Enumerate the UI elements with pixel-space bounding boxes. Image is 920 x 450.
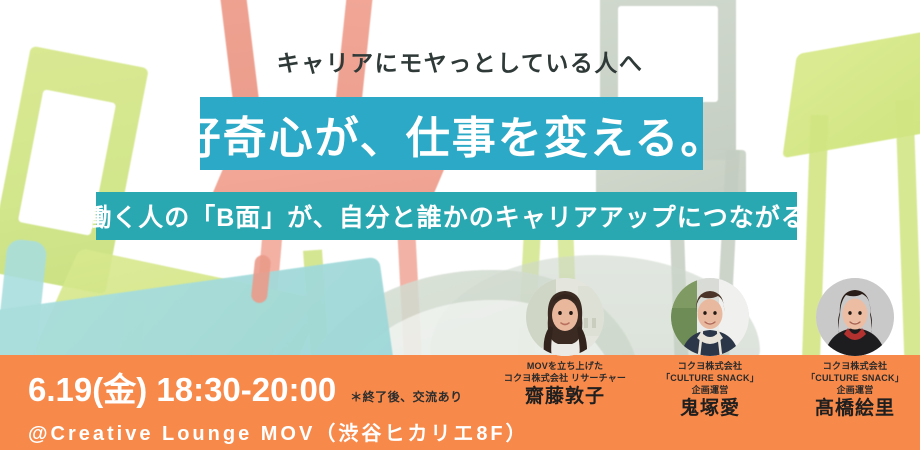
speaker-name: 齋藤敦子: [525, 387, 605, 408]
tagline: キャリアにモヤっとしている人へ: [0, 44, 920, 78]
speaker-role: MOVを立ち上げた コクヨ株式会社 リサーチャー: [504, 361, 626, 385]
speaker-card: コクヨ株式会社 「CULTURE SNACK」 企画運営 鬼塚愛: [645, 278, 775, 450]
event-banner: キャリアにモヤっとしている人へ 好奇心が、仕事を変える。 働く人の「B面」が、自…: [0, 0, 920, 450]
avatar: [526, 278, 604, 356]
speaker-name: 鬼塚愛: [680, 399, 740, 420]
portrait-takahashi-eri-image: [816, 278, 894, 356]
event-details: 6.19(金) 18:30-20:00 ＊終了後、交流あり @Creative …: [28, 363, 529, 446]
headline-band: 好奇心が、仕事を変える。: [200, 97, 703, 170]
speaker-card: MOVを立ち上げた コクヨ株式会社 リサーチャー 齋藤敦子: [500, 278, 630, 450]
event-note: ＊終了後、交流あり: [350, 388, 463, 405]
avatar: [816, 278, 894, 356]
headline-text: 好奇心が、仕事を変える。: [200, 97, 703, 170]
speaker-name: 髙橋絵里: [815, 399, 895, 420]
subheadline-band: 働く人の「B面」が、自分と誰かのキャリアアップにつながる: [96, 192, 797, 240]
avatar: [671, 278, 749, 356]
speaker-role: コクヨ株式会社 「CULTURE SNACK」 企画運営: [806, 361, 904, 397]
date-row: 6.19(金) 18:30-20:00 ＊終了後、交流あり: [28, 363, 529, 411]
subheadline-text: 働く人の「B面」が、自分と誰かのキャリアアップにつながる: [96, 192, 797, 240]
speaker-list: MOVを立ち上げた コクヨ株式会社 リサーチャー 齋藤敦子: [500, 278, 920, 450]
event-venue: @Creative Lounge MOV（渋谷ヒカリエ8F）: [28, 417, 529, 446]
event-date-time: 6.19(金) 18:30-20:00: [28, 363, 336, 411]
portrait-saito-atsuko-image: [526, 278, 604, 356]
speaker-role: コクヨ株式会社 「CULTURE SNACK」 企画運営: [661, 361, 759, 397]
speaker-card: コクヨ株式会社 「CULTURE SNACK」 企画運営 髙橋絵里: [790, 278, 920, 450]
portrait-onizuka-ai-image: [671, 278, 749, 356]
